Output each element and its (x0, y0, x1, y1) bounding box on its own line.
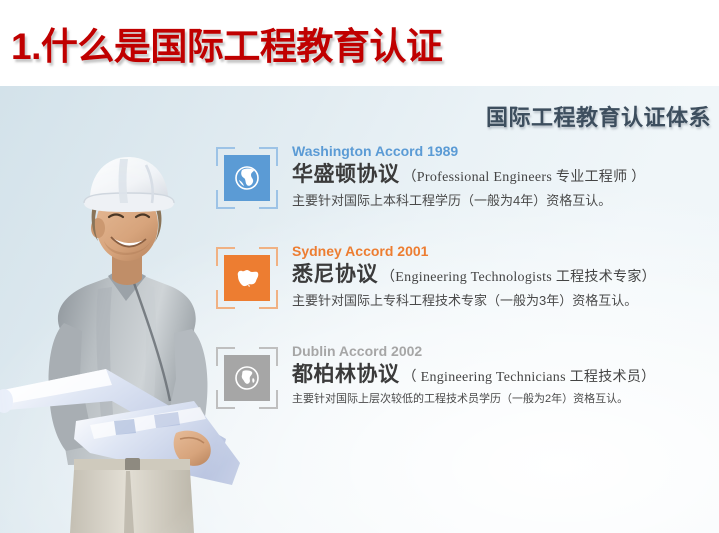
accord-text-block: Washington Accord 1989 华盛顿协议（Professiona… (292, 143, 646, 210)
accord-chinese-name: 悉尼协议 (292, 263, 378, 286)
engineer-photo (0, 133, 244, 533)
globe-americas-icon (224, 155, 270, 201)
australia-map-icon (224, 255, 270, 301)
accord-chinese-line: 华盛顿协议（Professional Engineers 专业工程师 ） (292, 162, 646, 190)
accord-item-dublin[interactable]: Dublin Accord 2002 都柏林协议（ Engineering Te… (216, 343, 655, 409)
accord-description: 主要针对国际上专科工程技术专家（一般为3年）资格互认。 (292, 291, 656, 310)
accord-paren-text: （ Engineering Technicians 工程技术员） (403, 370, 656, 385)
accord-icon-frame (216, 247, 278, 309)
accord-icon-frame (216, 147, 278, 209)
accord-item-washington[interactable]: Washington Accord 1989 华盛顿协议（Professiona… (216, 143, 646, 210)
title-band: 1.什么是国际工程教育认证 (0, 0, 719, 86)
section-title: 国际工程教育认证体系 (486, 100, 711, 132)
accord-paren-text: （Professional Engineers 专业工程师 ） (403, 170, 646, 185)
accord-text-block: Dublin Accord 2002 都柏林协议（ Engineering Te… (292, 343, 655, 407)
accord-description: 主要针对国际上层次较低的工程技术员学历（一般为2年）资格互认。 (292, 391, 655, 407)
globe-africa-icon (224, 355, 270, 401)
accord-description: 主要针对国际上本科工程学历（一般为4年）资格互认。 (292, 191, 646, 210)
accord-icon-frame (216, 347, 278, 409)
accord-english-label: Washington Accord 1989 (292, 143, 646, 160)
slide-canvas: 1.什么是国际工程教育认证 国际工程教育认证体系 (0, 0, 719, 533)
accord-chinese-line: 都柏林协议（ Engineering Technicians 工程技术员） (292, 362, 655, 390)
accord-chinese-name: 都柏林协议 (292, 363, 400, 386)
accord-item-sydney[interactable]: Sydney Accord 2001 悉尼协议（Engineering Tech… (216, 243, 656, 310)
content-panel: 国际工程教育认证体系 (0, 86, 719, 533)
accord-english-label: Sydney Accord 2001 (292, 243, 656, 260)
page-title: 1.什么是国际工程教育认证 (11, 24, 442, 70)
accord-english-label: Dublin Accord 2002 (292, 343, 655, 360)
accord-chinese-name: 华盛顿协议 (292, 163, 400, 186)
accord-paren-text: （Engineering Technologists 工程技术专家） (381, 270, 656, 285)
accord-chinese-line: 悉尼协议（Engineering Technologists 工程技术专家） (292, 262, 656, 290)
accord-text-block: Sydney Accord 2001 悉尼协议（Engineering Tech… (292, 243, 656, 310)
